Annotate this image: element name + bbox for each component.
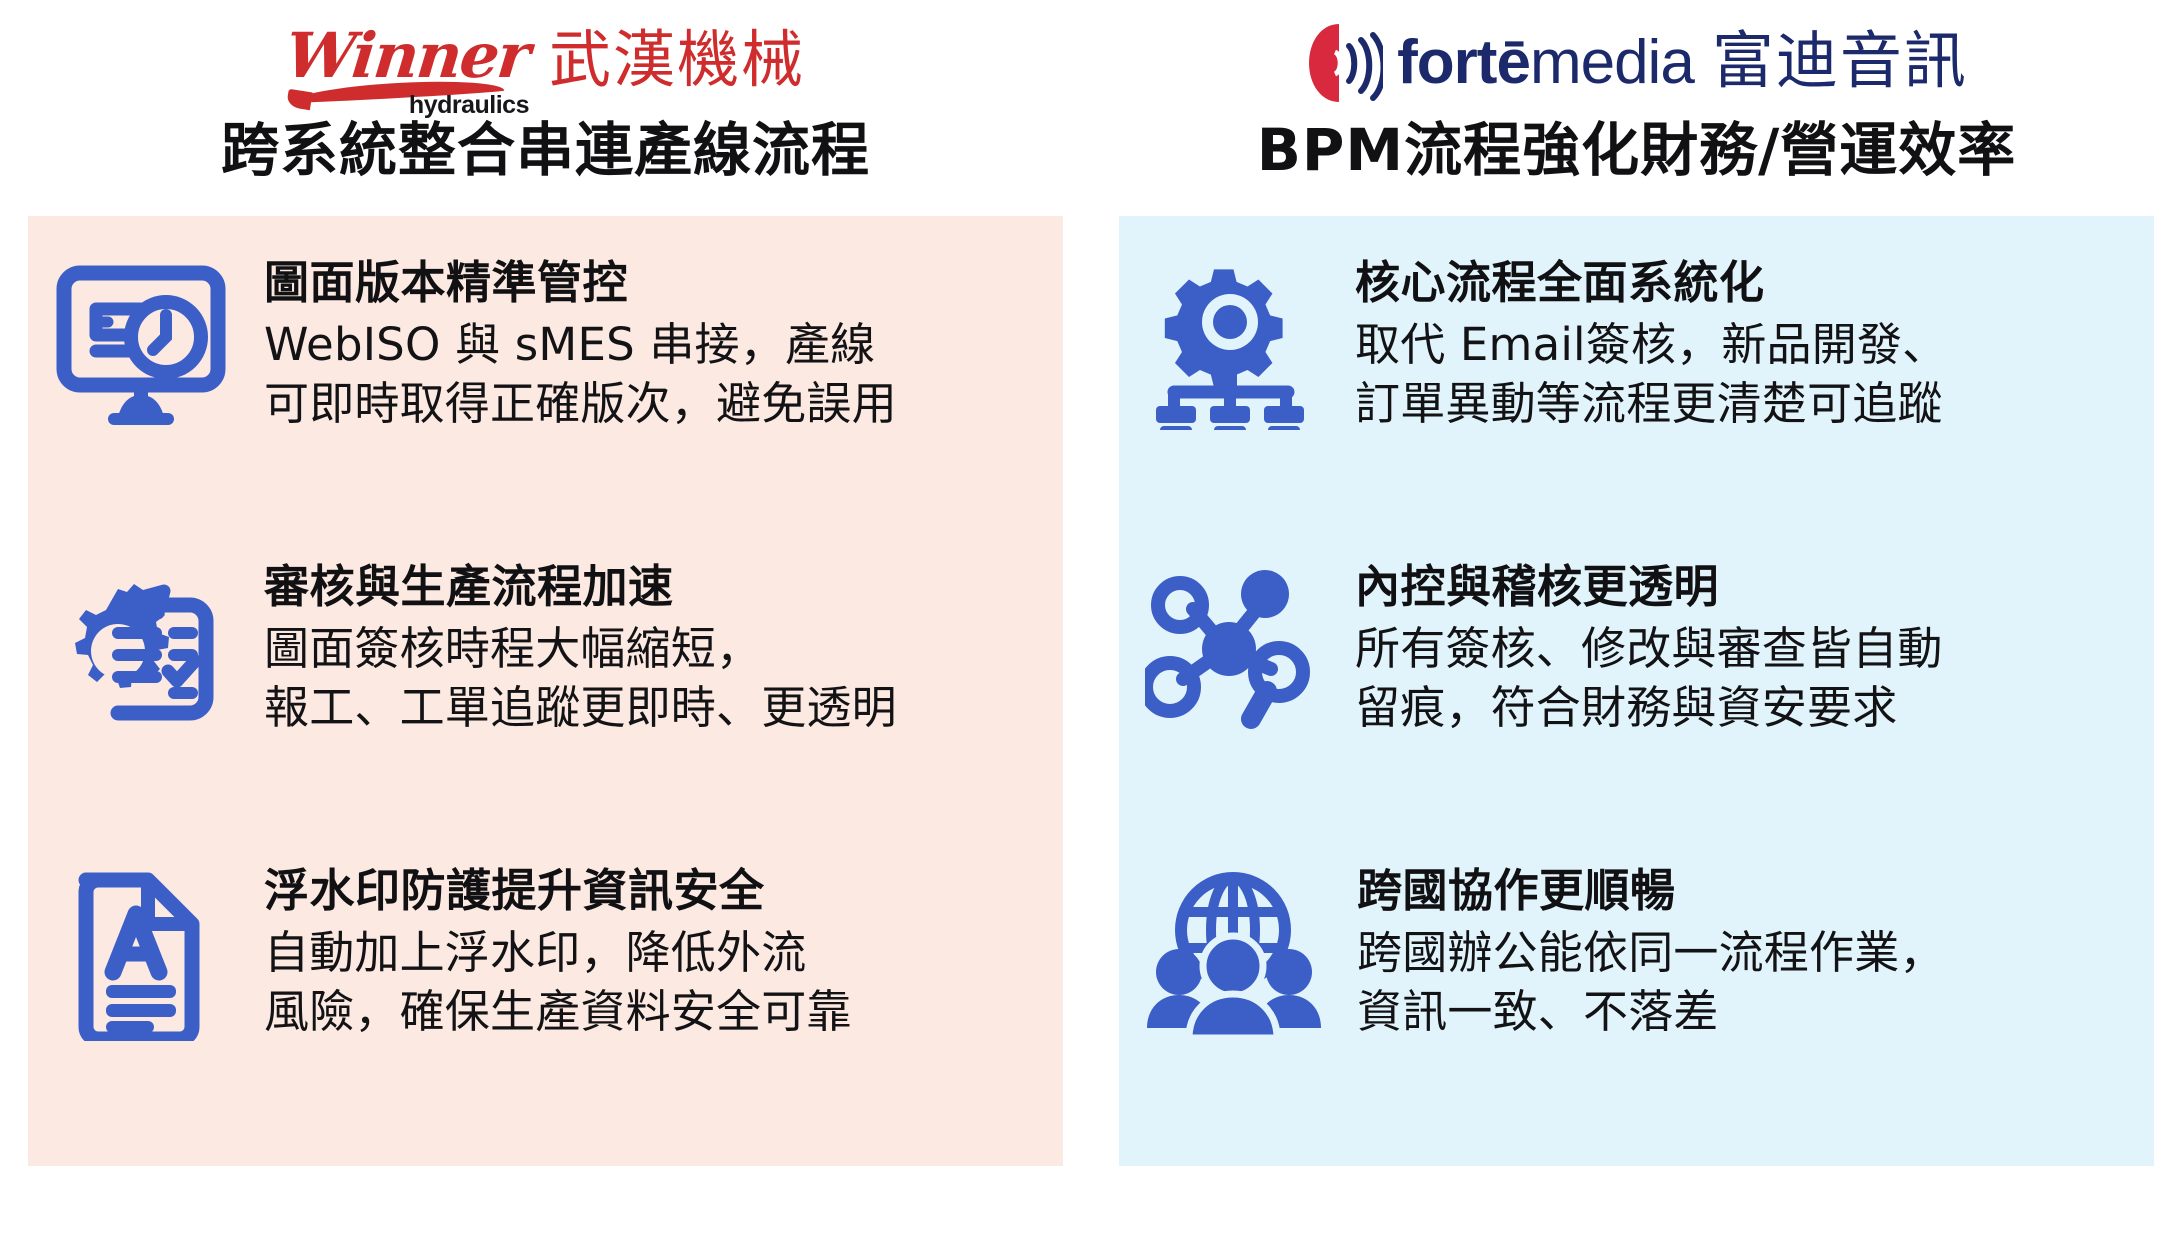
feature-text: 內控與稽核更透明 所有簽核、修改與審查皆自動 留痕，符合財務與資安要求 bbox=[1355, 554, 2130, 738]
feature-title: 內控與稽核更透明 bbox=[1355, 560, 2130, 613]
gear-checklist-icon bbox=[52, 554, 230, 744]
feature-body-line: 報工、工單追蹤更即時、更透明 bbox=[264, 678, 1039, 737]
feature-item: 圖面版本精準管控 WebISO 與 sMES 串接，產線 可即時取得正確版次，避… bbox=[52, 250, 1039, 508]
feature-title: 核心流程全面系統化 bbox=[1355, 256, 2130, 309]
feature-body: 取代 Email簽核，新品開發、 訂單異動等流程更清楚可追蹤 bbox=[1355, 315, 2130, 434]
right-feature-panel: 核心流程全面系統化 取代 Email簽核，新品開發、 訂單異動等流程更清楚可追蹤 bbox=[1119, 216, 2154, 1166]
feature-text: 圖面版本精準管控 WebISO 與 sMES 串接，產線 可即時取得正確版次，避… bbox=[264, 250, 1039, 434]
feature-item: 跨國協作更順暢 跨國辦公能依同一流程作業， 資訊一致、不落差 bbox=[1143, 858, 2130, 1116]
right-heading: BPM流程強化財務/營運效率 bbox=[1091, 118, 2182, 202]
feature-body-line: 所有簽核、修改與審查皆自動 bbox=[1355, 619, 2130, 678]
feature-body-line: 自動加上浮水印，降低外流 bbox=[264, 923, 1039, 982]
feature-body-line: 圖面簽核時程大幅縮短， bbox=[264, 619, 1039, 678]
feature-text: 審核與生產流程加速 圖面簽核時程大幅縮短， 報工、工單追蹤更即時、更透明 bbox=[264, 554, 1039, 738]
feature-text: 浮水印防護提升資訊安全 自動加上浮水印，降低外流 風險，確保生產資料安全可靠 bbox=[264, 858, 1039, 1042]
left-feature-panel: 圖面版本精準管控 WebISO 與 sMES 串接，產線 可即時取得正確版次，避… bbox=[28, 216, 1063, 1166]
feature-body-line: 留痕，符合財務與資安要求 bbox=[1355, 678, 2130, 737]
fortemedia-speaker-logo: fortēmedia bbox=[1305, 20, 1694, 106]
feature-body-line: 可即時取得正確版次，避免誤用 bbox=[264, 374, 1039, 433]
feature-text: 核心流程全面系統化 取代 Email簽核，新品開發、 訂單異動等流程更清楚可追蹤 bbox=[1355, 250, 2130, 434]
left-column: Winner hydraulics 武漢機械 跨系統整合串連產線流程 bbox=[0, 0, 1091, 1236]
feature-body: 跨國辦公能依同一流程作業， 資訊一致、不落差 bbox=[1357, 923, 2130, 1042]
feature-body: WebISO 與 sMES 串接，產線 可即時取得正確版次，避免誤用 bbox=[264, 315, 1039, 434]
fortemedia-wordmark: fortēmedia bbox=[1397, 32, 1694, 94]
feature-body-line: 跨國辦公能依同一流程作業， bbox=[1357, 923, 2130, 982]
fortemedia-word-bold: fortē bbox=[1397, 28, 1530, 97]
feature-title: 跨國協作更順暢 bbox=[1357, 864, 2130, 917]
feature-item: 內控與稽核更透明 所有簽核、修改與審查皆自動 留痕，符合財務與資安要求 bbox=[1143, 554, 2130, 812]
feature-body-line: 風險，確保生產資料安全可靠 bbox=[264, 982, 1039, 1041]
left-heading: 跨系統整合串連產線流程 bbox=[0, 118, 1091, 202]
fortemedia-logo-row: fortēmedia 富迪音訊 bbox=[1091, 0, 2182, 118]
fortemedia-chinese-name: 富迪音訊 bbox=[1712, 30, 1968, 96]
feature-body-line: 取代 Email簽核，新品開發、 bbox=[1355, 315, 2130, 374]
feature-body-line: 資訊一致、不落差 bbox=[1357, 982, 2130, 1041]
winner-wordmark: Winner bbox=[282, 19, 532, 92]
feature-body: 所有簽核、修改與審查皆自動 留痕，符合財務與資安要求 bbox=[1355, 619, 2130, 738]
winner-chinese-name: 武漢機械 bbox=[549, 29, 805, 97]
feature-item: 核心流程全面系統化 取代 Email簽核，新品開發、 訂單異動等流程更清楚可追蹤 bbox=[1143, 250, 2130, 508]
feature-body-line: 訂單異動等流程更清楚可追蹤 bbox=[1355, 374, 2130, 433]
speaker-wave-icon bbox=[1305, 20, 1383, 106]
fortemedia-word-regular: media bbox=[1530, 28, 1694, 97]
feature-item: 審核與生產流程加速 圖面簽核時程大幅縮短， 報工、工單追蹤更即時、更透明 bbox=[52, 554, 1039, 812]
winner-logo-row: Winner hydraulics 武漢機械 bbox=[0, 0, 1091, 118]
feature-text: 跨國協作更順暢 跨國辦公能依同一流程作業， 資訊一致、不落差 bbox=[1357, 858, 2130, 1042]
feature-title: 浮水印防護提升資訊安全 bbox=[264, 864, 1039, 917]
feature-body: 圖面簽核時程大幅縮短， 報工、工單追蹤更即時、更透明 bbox=[264, 619, 1039, 738]
feature-title: 圖面版本精準管控 bbox=[264, 256, 1039, 309]
feature-body: 自動加上浮水印，降低外流 風險，確保生產資料安全可靠 bbox=[264, 923, 1039, 1042]
globe-people-icon bbox=[1143, 858, 1323, 1048]
winner-hydraulics-label: hydraulics bbox=[409, 91, 529, 120]
monitor-clock-icon bbox=[52, 250, 230, 440]
feature-body-line: WebISO 與 sMES 串接，產線 bbox=[264, 315, 1039, 374]
winner-hydraulics-logo: Winner hydraulics bbox=[286, 17, 531, 109]
feature-title: 審核與生產流程加速 bbox=[264, 560, 1039, 613]
document-watermark-a-icon bbox=[52, 858, 230, 1048]
slide-root: Winner hydraulics 武漢機械 跨系統整合串連產線流程 bbox=[0, 0, 2182, 1236]
right-column: fortēmedia 富迪音訊 BPM流程強化財務/營運效率 bbox=[1091, 0, 2182, 1236]
gear-hierarchy-icon bbox=[1143, 250, 1321, 440]
feature-item: 浮水印防護提升資訊安全 自動加上浮水印，降低外流 風險，確保生產資料安全可靠 bbox=[52, 858, 1039, 1116]
network-magnifier-audit-icon bbox=[1143, 554, 1321, 744]
